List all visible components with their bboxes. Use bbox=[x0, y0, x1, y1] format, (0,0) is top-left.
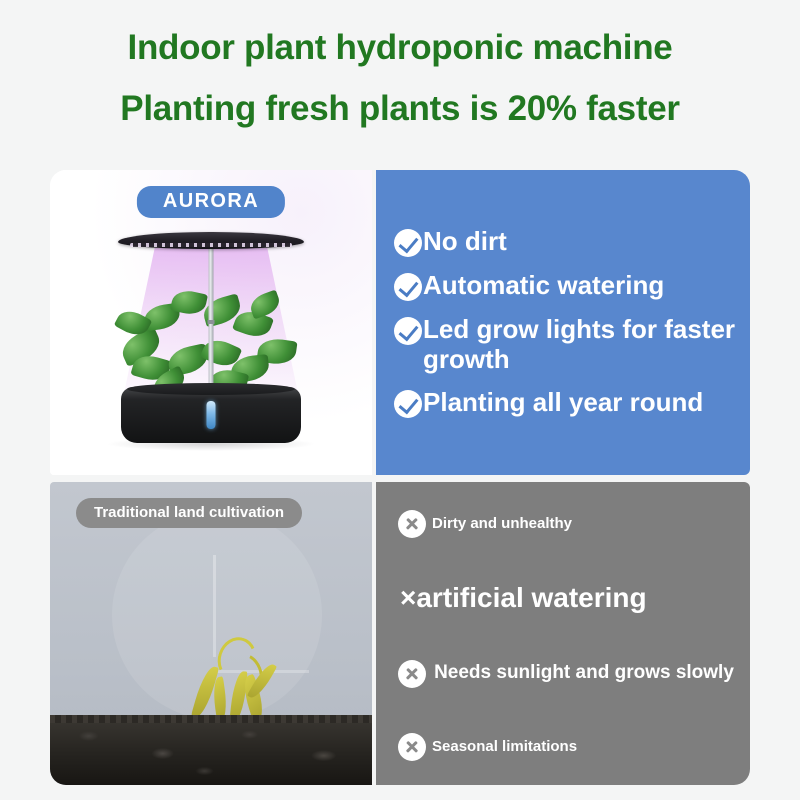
panel-grid: AURORA bbox=[50, 170, 750, 785]
benefits-panel: No dirt Automatic watering Led grow ligh… bbox=[376, 170, 750, 475]
x-icon bbox=[398, 733, 426, 761]
wilted-plant bbox=[192, 631, 284, 727]
base-rim bbox=[127, 383, 295, 395]
check-icon bbox=[394, 273, 422, 301]
benefit-item-automatic-watering: Automatic watering bbox=[394, 271, 736, 301]
traditional-image-panel: Traditional land cultivation bbox=[50, 482, 372, 785]
drawbacks-panel: Dirty and unhealthy ×artificial watering… bbox=[376, 482, 750, 785]
drawback-item-seasonal-limitations: Seasonal limitations bbox=[398, 733, 734, 761]
x-icon bbox=[398, 510, 426, 538]
hydroponic-base-unit bbox=[121, 387, 301, 443]
headline-line-1: Indoor plant hydroponic machine bbox=[0, 30, 800, 65]
check-icon bbox=[394, 229, 422, 257]
headline-line-2: Planting fresh plants is 20% faster bbox=[0, 91, 800, 126]
benefit-label: Planting all year round bbox=[423, 388, 703, 417]
drawback-item-needs-sunlight: Needs sunlight and grows slowly bbox=[398, 660, 734, 688]
benefit-item-led-grow-lights: Led grow lights for faster growth bbox=[394, 315, 736, 373]
led-lamp-head-icon bbox=[118, 232, 304, 249]
drawback-heading-artificial-watering: ×artificial watering bbox=[400, 583, 734, 614]
water-level-indicator-icon bbox=[207, 401, 216, 429]
led-strip-icon bbox=[130, 243, 292, 247]
drawback-item-dirty: Dirty and unhealthy bbox=[398, 510, 734, 538]
drawback-label: Needs sunlight and grows slowly bbox=[434, 662, 734, 684]
drawback-label: Dirty and unhealthy bbox=[432, 516, 572, 533]
lamp-pole-joint bbox=[208, 320, 215, 324]
benefit-label: Led grow lights for faster growth bbox=[423, 315, 736, 373]
x-icon bbox=[398, 660, 426, 688]
soil-ground bbox=[50, 715, 372, 785]
drawback-label: Seasonal limitations bbox=[432, 739, 577, 756]
benefit-item-all-year-round: Planting all year round bbox=[394, 388, 736, 418]
benefit-item-no-dirt: No dirt bbox=[394, 227, 736, 257]
lamp-pole bbox=[209, 244, 214, 386]
headline-block: Indoor plant hydroponic machine Planting… bbox=[0, 0, 800, 126]
check-icon bbox=[394, 390, 422, 418]
benefit-label: Automatic watering bbox=[423, 271, 664, 300]
product-image-panel: AURORA bbox=[50, 170, 372, 475]
benefit-label: No dirt bbox=[423, 227, 507, 256]
traditional-cultivation-badge: Traditional land cultivation bbox=[76, 498, 302, 528]
aurora-brand-badge: AURORA bbox=[137, 186, 285, 218]
check-icon bbox=[394, 317, 422, 345]
